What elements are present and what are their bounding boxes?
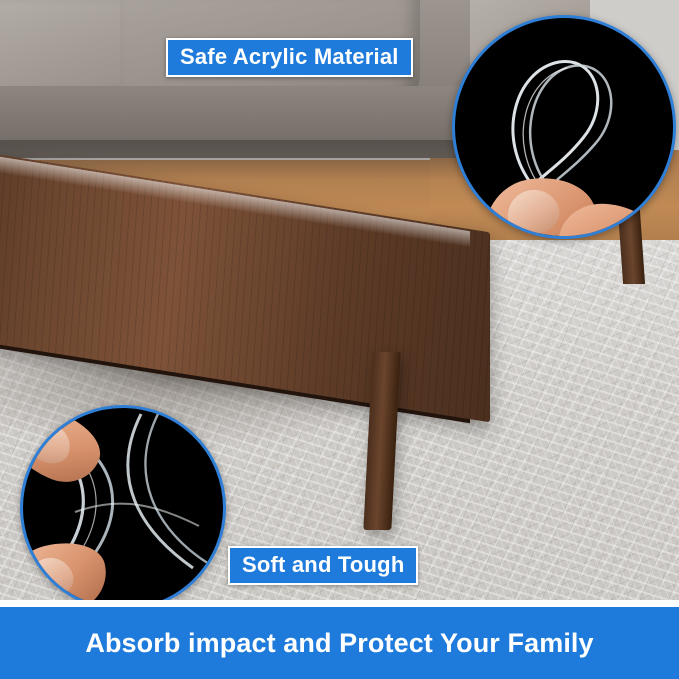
banner-text: Absorb impact and Protect Your Family bbox=[85, 628, 593, 659]
label-soft-and-tough: Soft and Tough bbox=[228, 546, 418, 585]
bottom-banner: Absorb impact and Protect Your Family bbox=[0, 607, 679, 679]
label-safe-acrylic-material: Safe Acrylic Material bbox=[166, 38, 413, 77]
safe-acrylic-material-inset bbox=[452, 15, 676, 239]
product-image: Safe Acrylic Material Soft and Tough Abs… bbox=[0, 0, 679, 679]
soft-and-tough-inset bbox=[20, 405, 226, 611]
